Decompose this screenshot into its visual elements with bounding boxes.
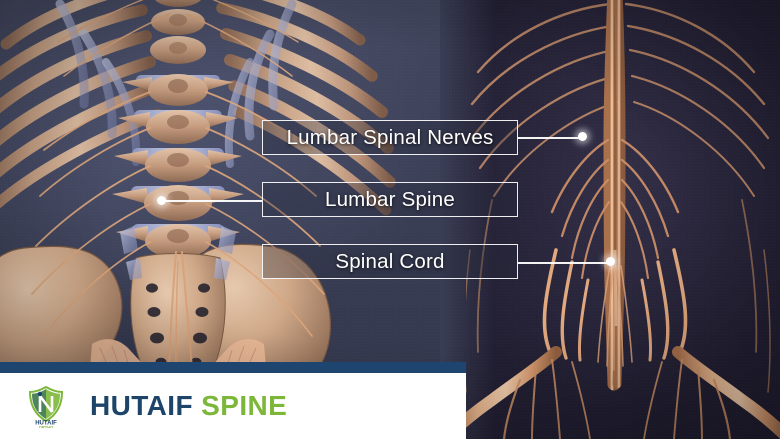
footer-accent-bar <box>0 362 466 373</box>
leader-line-lumbar-spinal-nerves <box>518 137 583 139</box>
callout-label: Spinal Cord <box>335 250 444 274</box>
brand-primary: HUTAIF <box>90 390 193 421</box>
footer-branding-bar: HUTAIF ORTHO HUTAIF SPINE <box>0 373 466 439</box>
hutaif-logo-icon: HUTAIF ORTHO <box>24 384 68 428</box>
callout-lumbar-spine[interactable]: Lumbar Spine <box>262 182 518 217</box>
callout-dot-lumbar-spinal-nerves <box>578 132 587 141</box>
brand-title: HUTAIF SPINE <box>90 390 287 422</box>
logo-subtext: ORTHO <box>39 424 53 428</box>
callout-lumbar-spinal-nerves[interactable]: Lumbar Spinal Nerves <box>262 120 518 155</box>
leader-line-lumbar-spine <box>162 200 262 202</box>
leader-line-spinal-cord <box>518 262 611 264</box>
brand-secondary: SPINE <box>201 390 287 421</box>
illustration-canvas: Lumbar Spinal Nerves Lumbar Spine Spinal… <box>0 0 780 439</box>
callout-dot-spinal-cord <box>606 257 615 266</box>
callout-label: Lumbar Spinal Nerves <box>287 126 494 150</box>
callout-dot-lumbar-spine <box>157 196 166 205</box>
callout-spinal-cord[interactable]: Spinal Cord <box>262 244 518 279</box>
callout-label: Lumbar Spine <box>325 188 455 212</box>
